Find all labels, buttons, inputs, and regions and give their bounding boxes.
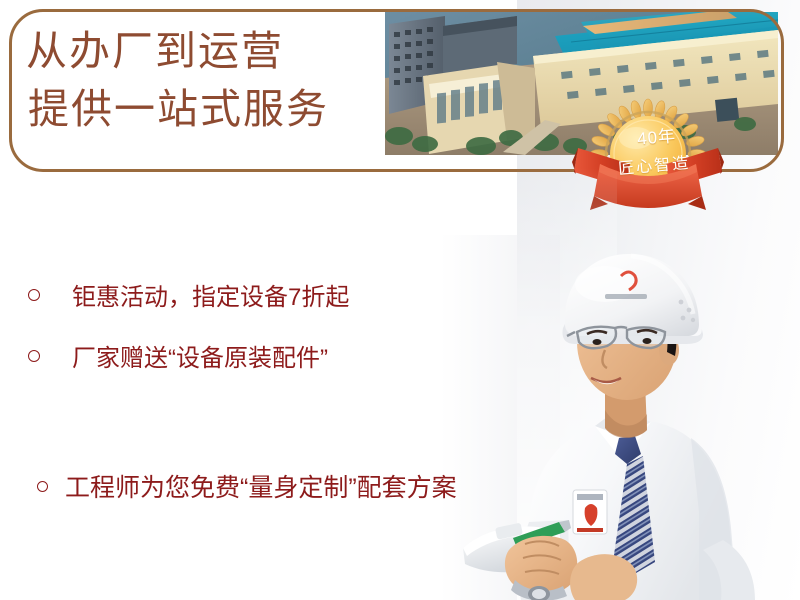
bullet-circle-icon <box>28 350 40 362</box>
benefit-list: 钜惠活动，指定设备7折起 厂家赠送“设备原装配件” 工程师为您免费“量身定制”配… <box>0 0 520 600</box>
engineer-photo <box>455 232 800 600</box>
list-item-label: 工程师为您免费“量身定制”配套方案 <box>65 468 457 504</box>
list-item-label: 厂家赠送“设备原装配件” <box>72 338 328 373</box>
list-item: 钜惠活动，指定设备7折起 <box>28 277 349 312</box>
bullet-circle-icon <box>28 289 40 301</box>
promo-banner: 40年 匠心智造 从办厂到运营 提供一站式服务 钜惠活动，指定设备7折起 厂家赠… <box>0 0 800 600</box>
list-item: 厂家赠送“设备原装配件” <box>28 338 328 373</box>
bullet-circle-icon <box>37 481 48 492</box>
list-item: 工程师为您免费“量身定制”配套方案 <box>37 468 457 504</box>
list-item-label: 钜惠活动，指定设备7折起 <box>72 277 349 312</box>
